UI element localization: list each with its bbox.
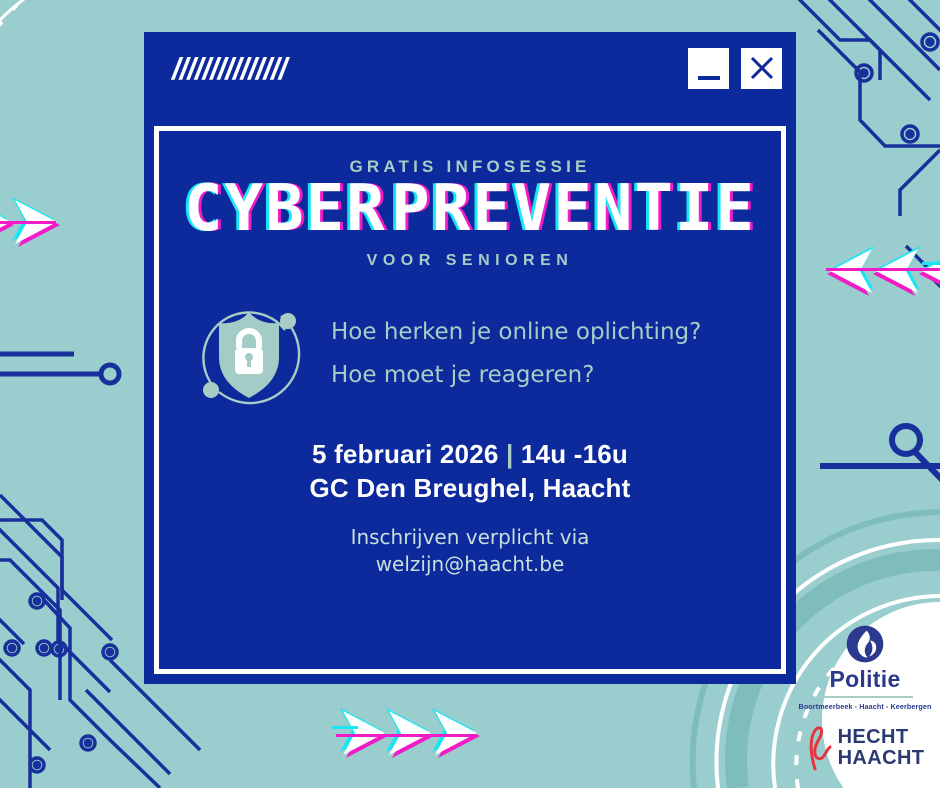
politie-flame-icon bbox=[845, 624, 885, 664]
poster-frame: GRATIS INFOSESSIE CYBER PREVENTIE VOOR S… bbox=[154, 126, 786, 674]
close-icon bbox=[749, 55, 775, 81]
event-details: 5 februari 2026 | 14u -16u GC Den Breugh… bbox=[159, 438, 781, 578]
registration-note: Inschrijven verplicht via bbox=[159, 524, 781, 551]
event-time: 14u -16u bbox=[521, 439, 628, 469]
registration-info: Inschrijven verplicht via welzijn@haacht… bbox=[159, 524, 781, 578]
question-1: Hoe herken je online oplichting? bbox=[331, 311, 701, 355]
politie-wordmark: Politie bbox=[829, 666, 900, 693]
questions-row: Hoe herken je online oplichting? Hoe moe… bbox=[159, 294, 781, 414]
hecht-haacht-logo: HECHT HAACHT bbox=[806, 725, 925, 771]
event-date: 5 februari 2026 bbox=[312, 439, 499, 469]
window-titlebar: /////////////// bbox=[144, 32, 796, 104]
close-button[interactable] bbox=[741, 48, 782, 89]
minimize-button[interactable] bbox=[688, 48, 729, 89]
event-datetime: 5 februari 2026 | 14u -16u bbox=[159, 438, 781, 472]
window-title-slashes: /////////////// bbox=[172, 53, 286, 84]
event-venue: GC Den Breughel, Haacht bbox=[159, 472, 781, 506]
headline-line-1: CYBER bbox=[184, 179, 387, 240]
poster-window: /////////////// GRATIS INFOSESSIE CYBER … bbox=[144, 32, 796, 684]
registration-email[interactable]: welzijn@haacht.be bbox=[159, 551, 781, 578]
minimize-icon bbox=[698, 76, 720, 80]
poster-subhead: VOOR SENIOREN bbox=[159, 252, 781, 270]
headline-line-2: PREVENTIE bbox=[391, 179, 756, 240]
hecht-h-icon bbox=[806, 725, 834, 771]
poster-content: GRATIS INFOSESSIE CYBER PREVENTIE VOOR S… bbox=[159, 131, 781, 669]
politie-zones: Boortmeerbeek - Haacht - Keerbergen bbox=[799, 702, 932, 711]
question-2: Hoe moet je reageren? bbox=[331, 354, 701, 398]
window-controls bbox=[688, 48, 782, 89]
questions-list: Hoe herken je online oplichting? Hoe moe… bbox=[331, 311, 701, 398]
shield-lock-icon bbox=[189, 294, 309, 414]
hecht-line-1: HECHT bbox=[838, 727, 925, 748]
poster-headline: CYBER PREVENTIE bbox=[159, 179, 781, 240]
politie-divider bbox=[817, 696, 913, 698]
hecht-wordmark: HECHT HAACHT bbox=[838, 727, 925, 769]
date-separator: | bbox=[506, 439, 513, 469]
logo-block: Politie Boortmeerbeek - Haacht - Keerber… bbox=[790, 610, 940, 788]
hecht-line-2: HAACHT bbox=[838, 748, 925, 769]
